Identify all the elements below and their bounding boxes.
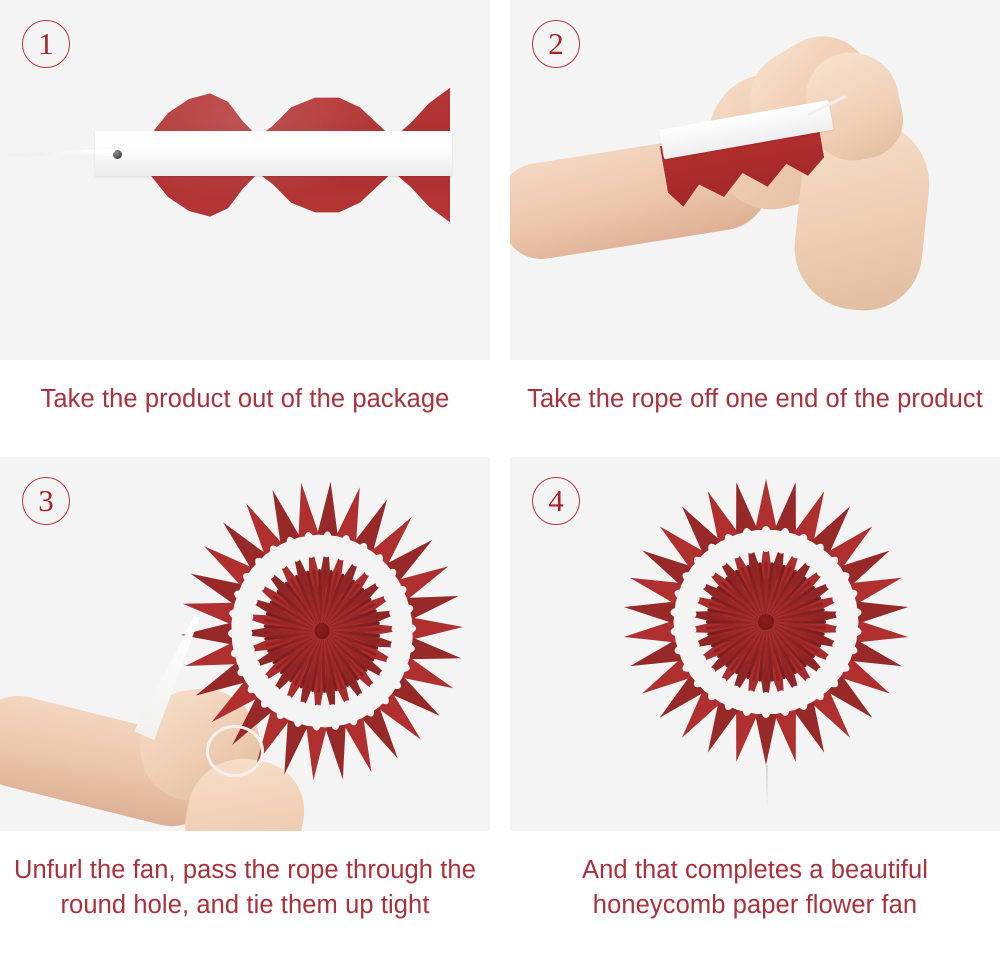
step-4-caption-line-1: And that completes a beautiful <box>510 853 1000 888</box>
hanging-thread <box>766 765 768 811</box>
step-2-image: 2 <box>510 0 1000 360</box>
step-2-badge: 2 <box>532 20 580 68</box>
step-3-caption: Unfurl the fan, pass the rope through th… <box>0 831 490 922</box>
step-1-caption-line-1: Take the product out of the package <box>0 382 490 417</box>
instruction-sheet: 1 Take the product out of the package 2 <box>0 0 1000 956</box>
folded-product-pack <box>95 85 455 225</box>
step-1-caption: Take the product out of the package <box>0 360 490 417</box>
fan-center-hub <box>758 614 774 630</box>
finished-paper-flower-fan <box>623 479 909 765</box>
step-1-image: 1 <box>0 0 490 360</box>
step-1-panel: 1 Take the product out of the package <box>0 0 490 437</box>
step-3-badge: 3 <box>22 477 70 525</box>
step-4-image: 4 <box>510 457 1000 831</box>
step-3-image: 3 <box>0 457 490 831</box>
step-2-caption: Take the rope off one end of the product <box>510 360 1000 417</box>
step-3-caption-line-1: Unfurl the fan, pass the rope through th… <box>0 853 490 888</box>
step-1-badge: 1 <box>22 20 70 68</box>
step-4-caption: And that completes a beautiful honeycomb… <box>510 831 1000 922</box>
white-cardboard-strip <box>95 131 452 176</box>
white-rope-loop <box>206 725 264 777</box>
step-3-panel: 3 Unfurl the fan, pass the rope through … <box>0 457 490 956</box>
step-2-caption-line-1: Take the rope off one end of the product <box>510 382 1000 417</box>
step-2-panel: 2 Take the rope off one end of the produ… <box>510 0 1000 437</box>
step-4-badge: 4 <box>532 477 580 525</box>
step-4-caption-line-2: honeycomb paper flower fan <box>510 888 1000 923</box>
step-4-panel: 4 And that completes a beautiful honeyco… <box>510 457 1000 956</box>
step-3-caption-line-2: round hole, and tie them up tight <box>0 888 490 923</box>
